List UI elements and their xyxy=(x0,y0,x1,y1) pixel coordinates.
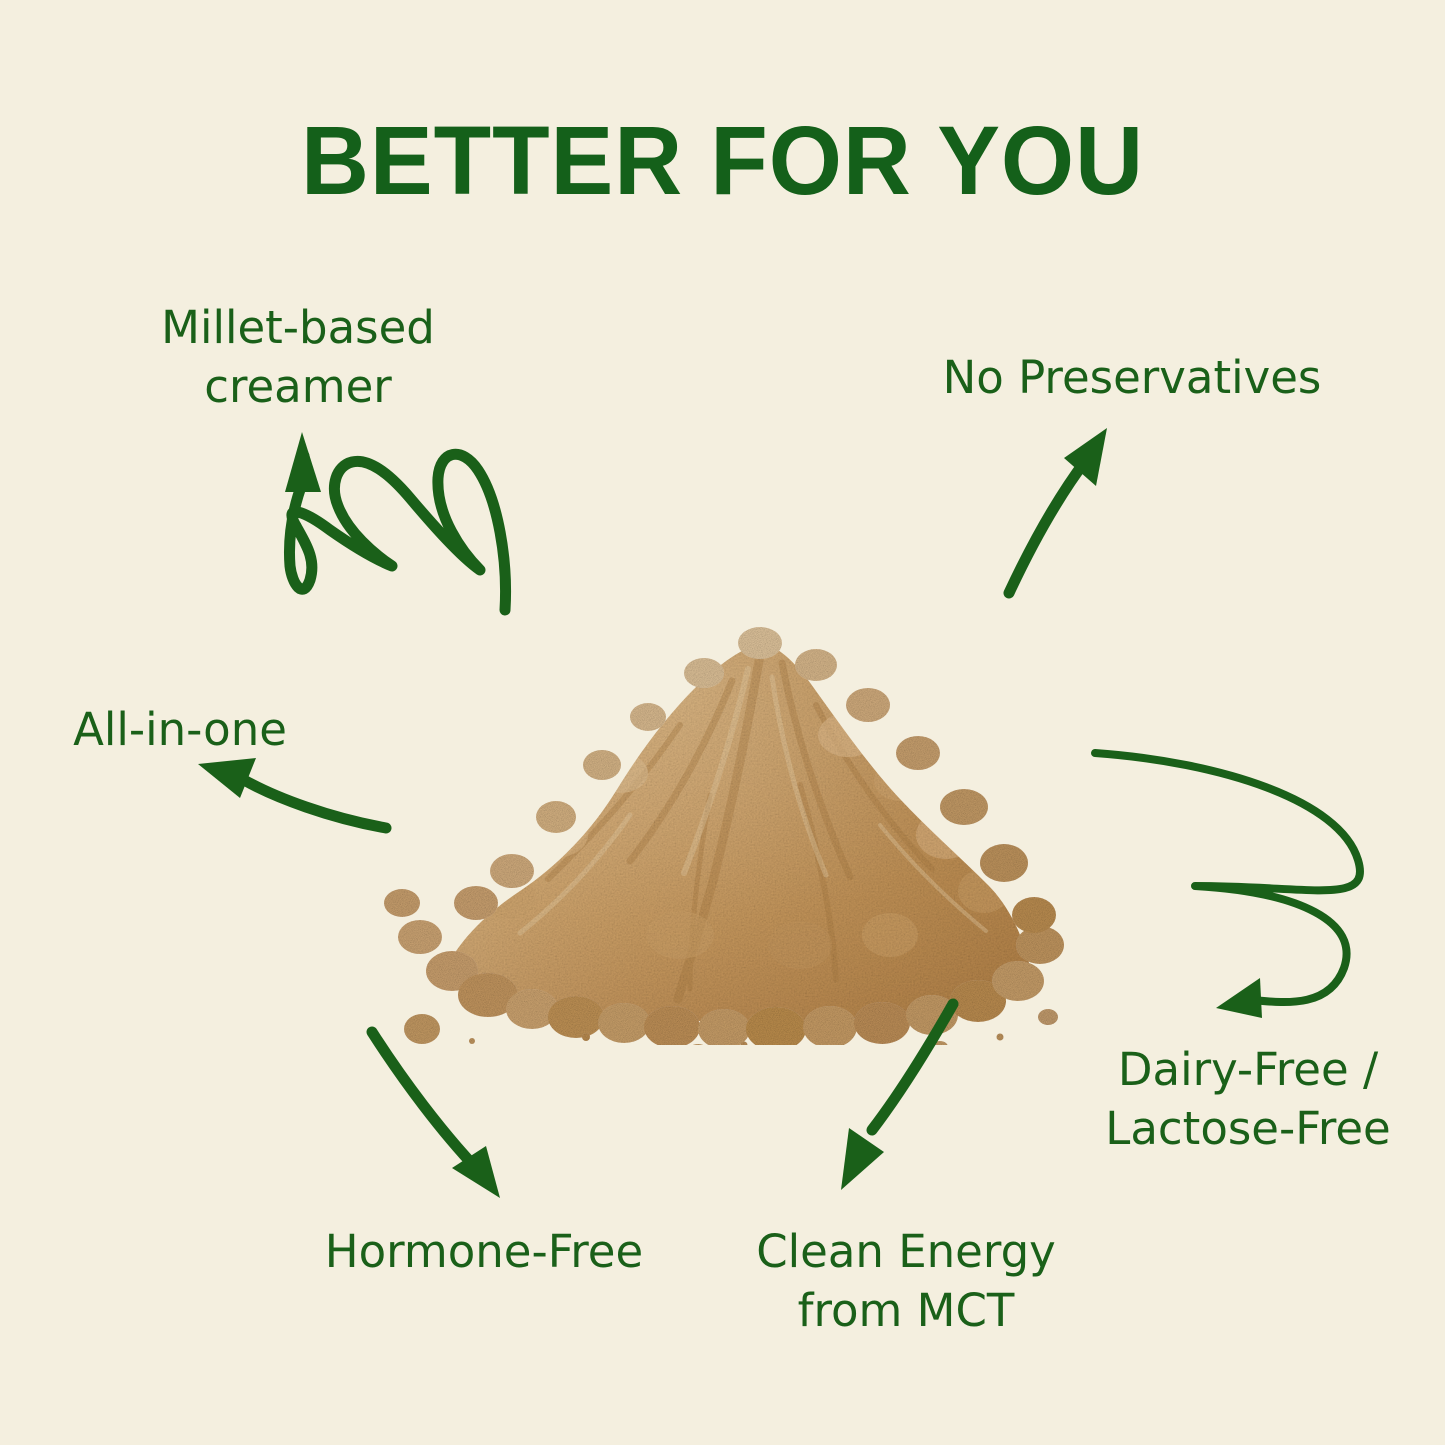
feature-label-hormone-free: Hormone-Free xyxy=(278,1222,690,1281)
squiggle-arrow-up-left-icon xyxy=(285,432,506,610)
feature-label-no-preservatives: No Preservatives xyxy=(892,348,1372,407)
powder-pile-graphic xyxy=(380,585,1080,1045)
arrow-up-left-icon xyxy=(198,758,386,828)
feature-label-millet-based-creamer: Millet-based creamer xyxy=(88,298,508,417)
arrow-down-right-icon xyxy=(372,1032,500,1198)
feature-label-clean-energy-from-mct: Clean Energy from MCT xyxy=(715,1222,1097,1341)
product-powder-image xyxy=(380,585,1080,1045)
infographic-canvas: BETTER FOR YOU xyxy=(0,0,1445,1445)
feature-label-dairy-free-lactose-free: Dairy-Free / Lactose-Free xyxy=(1052,1040,1444,1159)
s-curve-arrow-down-left-icon xyxy=(1095,753,1360,1018)
arrow-up-right-icon xyxy=(1009,428,1107,593)
feature-label-all-in-one: All-in-one xyxy=(20,700,340,759)
page-title: BETTER FOR YOU xyxy=(22,112,1424,209)
